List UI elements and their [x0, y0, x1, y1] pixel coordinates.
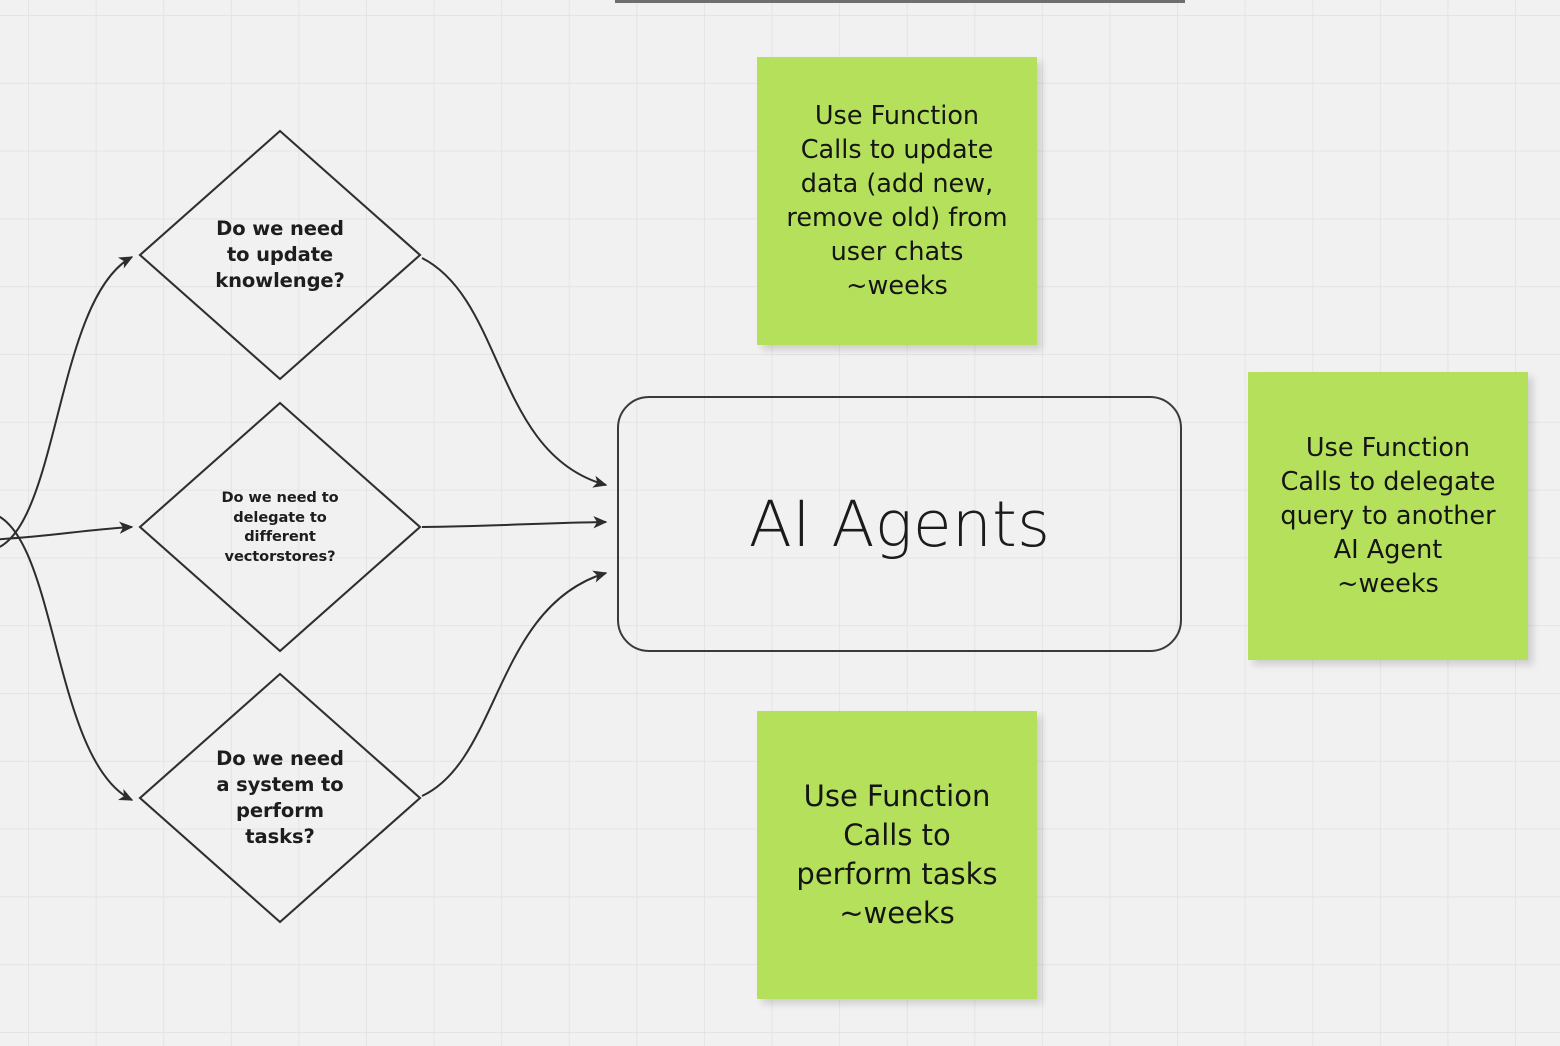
sticky-note-delegate-query[interactable]: Use Function Calls to delegate query to … — [1248, 372, 1528, 660]
ai-agents-label: AI Agents — [617, 396, 1182, 652]
connector-update-knowledge-to-ai-agents — [422, 258, 606, 485]
decision-label-update-knowledge: Do we need to update knowlenge? — [215, 216, 345, 294]
sticky-note-perform-tasks[interactable]: Use Function Calls to perform tasks ~wee… — [757, 711, 1037, 999]
sticky-note-update-data[interactable]: Use Function Calls to update data (add n… — [757, 57, 1037, 345]
connector-inflow-to-update-knowledge — [0, 257, 132, 551]
connector-inflow-to-delegate-vectorstores — [0, 527, 132, 540]
decision-diamond-delegate-vectorstores[interactable] — [140, 403, 420, 651]
decision-diamond-update-knowledge[interactable] — [140, 131, 420, 379]
connector-perform-tasks-to-ai-agents — [422, 573, 606, 796]
decision-label-perform-tasks: Do we need a system to perform tasks? — [216, 746, 344, 851]
connector-delegate-vectorstores-to-ai-agents — [422, 522, 606, 527]
connector-inflow-to-perform-tasks — [0, 512, 132, 800]
decision-diamond-perform-tasks[interactable] — [140, 674, 420, 922]
decision-label-delegate-vectorstores: Do we need to delegate to different vect… — [221, 488, 338, 566]
offscreen-shape-bottom-edge — [615, 0, 1185, 3]
whiteboard-canvas: Do we need to update knowlenge? Do we ne… — [0, 0, 1560, 1046]
